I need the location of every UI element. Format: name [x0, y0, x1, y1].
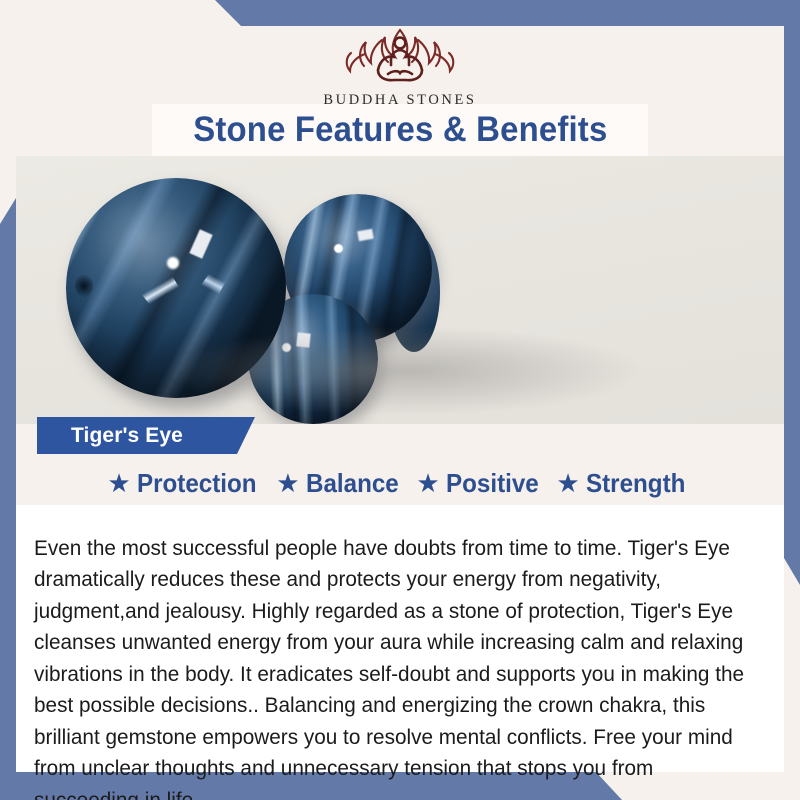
stone-benefits-poster: BUDDHA STONES Stone Features & Benefits [0, 0, 800, 800]
star-icon: ★ [556, 470, 579, 496]
lotus-meditation-icon [332, 24, 468, 90]
sphere-reflection [297, 332, 311, 347]
description-text: Even the most successful people have dou… [34, 533, 762, 800]
brand-logo: BUDDHA STONES [0, 24, 800, 109]
gemstone-sphere-large [66, 178, 286, 398]
benefit-label: Positive [446, 468, 539, 499]
stone-name-label: Tiger's Eye [37, 424, 183, 448]
benefit-item-balance: ★ Balance [276, 468, 405, 499]
benefit-item-strength: ★ Strength [556, 468, 692, 499]
benefit-item-positive: ★ Positive [416, 468, 545, 499]
benefit-item-protection: ★ Protection [107, 468, 265, 499]
star-icon: ★ [276, 470, 299, 496]
sphere-shading [66, 178, 286, 398]
stone-name-banner: Tiger's Eye [37, 417, 255, 454]
title-band: Stone Features & Benefits [152, 104, 648, 156]
benefit-label: Protection [137, 468, 257, 499]
description-panel: Even the most successful people have dou… [16, 505, 784, 772]
star-icon: ★ [416, 470, 439, 496]
sphere-drill-hole [75, 275, 93, 297]
page-title: Stone Features & Benefits [193, 110, 607, 150]
benefit-label: Strength [586, 468, 685, 499]
product-photo [16, 156, 784, 424]
sphere-highlight [282, 343, 291, 352]
star-icon: ★ [107, 470, 130, 496]
sphere-reflection [357, 228, 374, 240]
benefits-row: ★ Protection ★ Balance ★ Positive ★ Stre… [16, 462, 784, 504]
benefit-label: Balance [306, 468, 399, 499]
frame-top-bar [0, 0, 800, 26]
frame-left-bar [0, 198, 16, 800]
